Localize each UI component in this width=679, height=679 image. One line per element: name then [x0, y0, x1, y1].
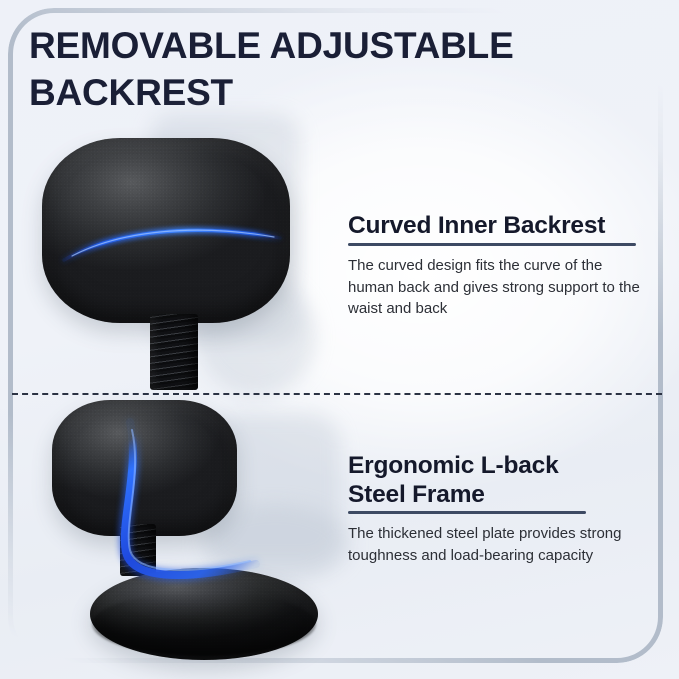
feature-block-curved-inner-backrest: Curved Inner Backrest The curved design … [348, 212, 644, 320]
feature-heading: Ergonomic L-back Steel Frame [348, 452, 644, 509]
backrest-cushion [52, 400, 237, 536]
page-title: REMOVABLE ADJUSTABLE BACKREST [29, 22, 629, 117]
feature-description: The thickened steel plate provides stron… [348, 523, 644, 567]
heading-underline [348, 243, 636, 246]
feature-description: The curved design fits the curve of the … [348, 255, 644, 321]
feature-block-ergonomic-l-back-steel-frame: Ergonomic L-back Steel Frame The thicken… [348, 452, 644, 567]
backrest-cushion [42, 138, 290, 323]
product-infographic: REMOVABLE ADJUSTABLE BACKREST [0, 0, 679, 679]
feature-heading: Curved Inner Backrest [348, 212, 644, 241]
seat-cushion-shadow [92, 592, 316, 656]
chair-frame-illustration [0, 396, 345, 666]
heading-underline [348, 511, 586, 514]
backrest-illustration [0, 126, 340, 388]
section-divider [12, 393, 662, 395]
adjustable-ribbed-post [150, 314, 198, 390]
